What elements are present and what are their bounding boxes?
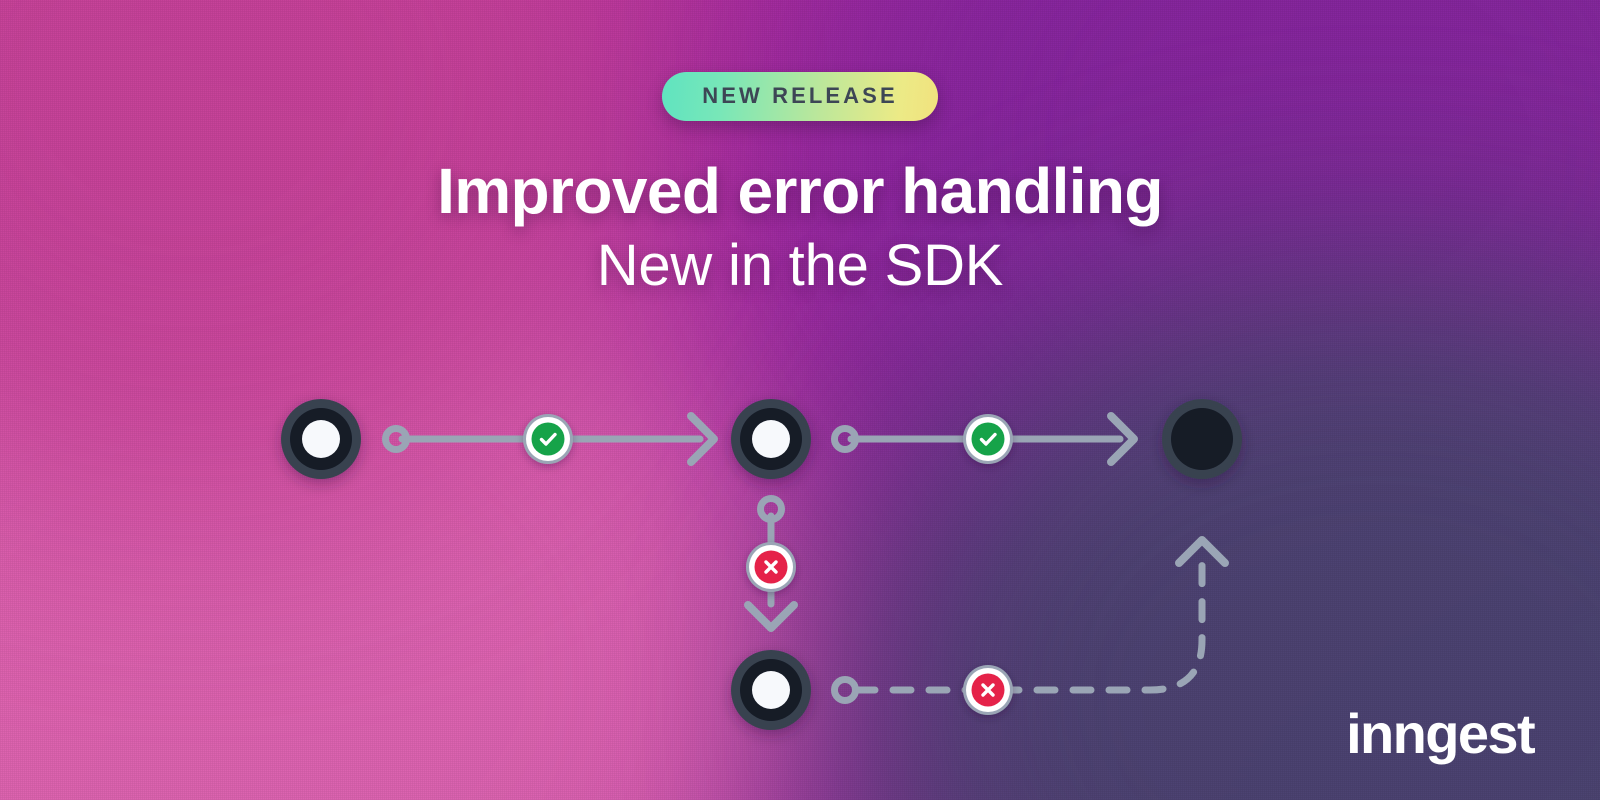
new-release-badge: NEW RELEASE (662, 72, 937, 121)
workflow-node-step-retry[interactable] (731, 650, 811, 730)
edge-socket-icon (386, 429, 407, 450)
arrowhead-down-icon (748, 605, 794, 628)
node-status-dot (302, 420, 340, 458)
status-marker-error-1[interactable] (746, 542, 796, 592)
arrowhead-up-icon (1179, 540, 1225, 563)
node-status-dot (752, 420, 790, 458)
workflow-node-step-2[interactable] (731, 399, 811, 479)
promo-graphic: NEW RELEASE Improved error handling New … (0, 0, 1600, 800)
edge-socket-icon (835, 680, 856, 701)
workflow-node-step-1[interactable] (281, 399, 361, 479)
status-marker-error-2[interactable] (963, 665, 1013, 715)
node-core (1171, 408, 1233, 470)
workflow-node-step-3[interactable] (1162, 399, 1242, 479)
page-title: Improved error handling (0, 157, 1600, 226)
inngest-logo: inngest (1346, 706, 1534, 762)
edge-socket-icon (835, 429, 856, 450)
page-subtitle: New in the SDK (0, 234, 1600, 298)
edge-socket-icon (761, 499, 782, 520)
status-marker-success-1[interactable] (523, 414, 573, 464)
marker-fill-success (532, 423, 565, 456)
edge-line-dashed (857, 560, 1202, 690)
node-status-dot (752, 671, 790, 709)
status-marker-success-2[interactable] (963, 414, 1013, 464)
marker-fill-success (972, 423, 1005, 456)
edge-retry-to-step3 (835, 540, 1226, 701)
header: NEW RELEASE Improved error handling New … (0, 72, 1600, 298)
